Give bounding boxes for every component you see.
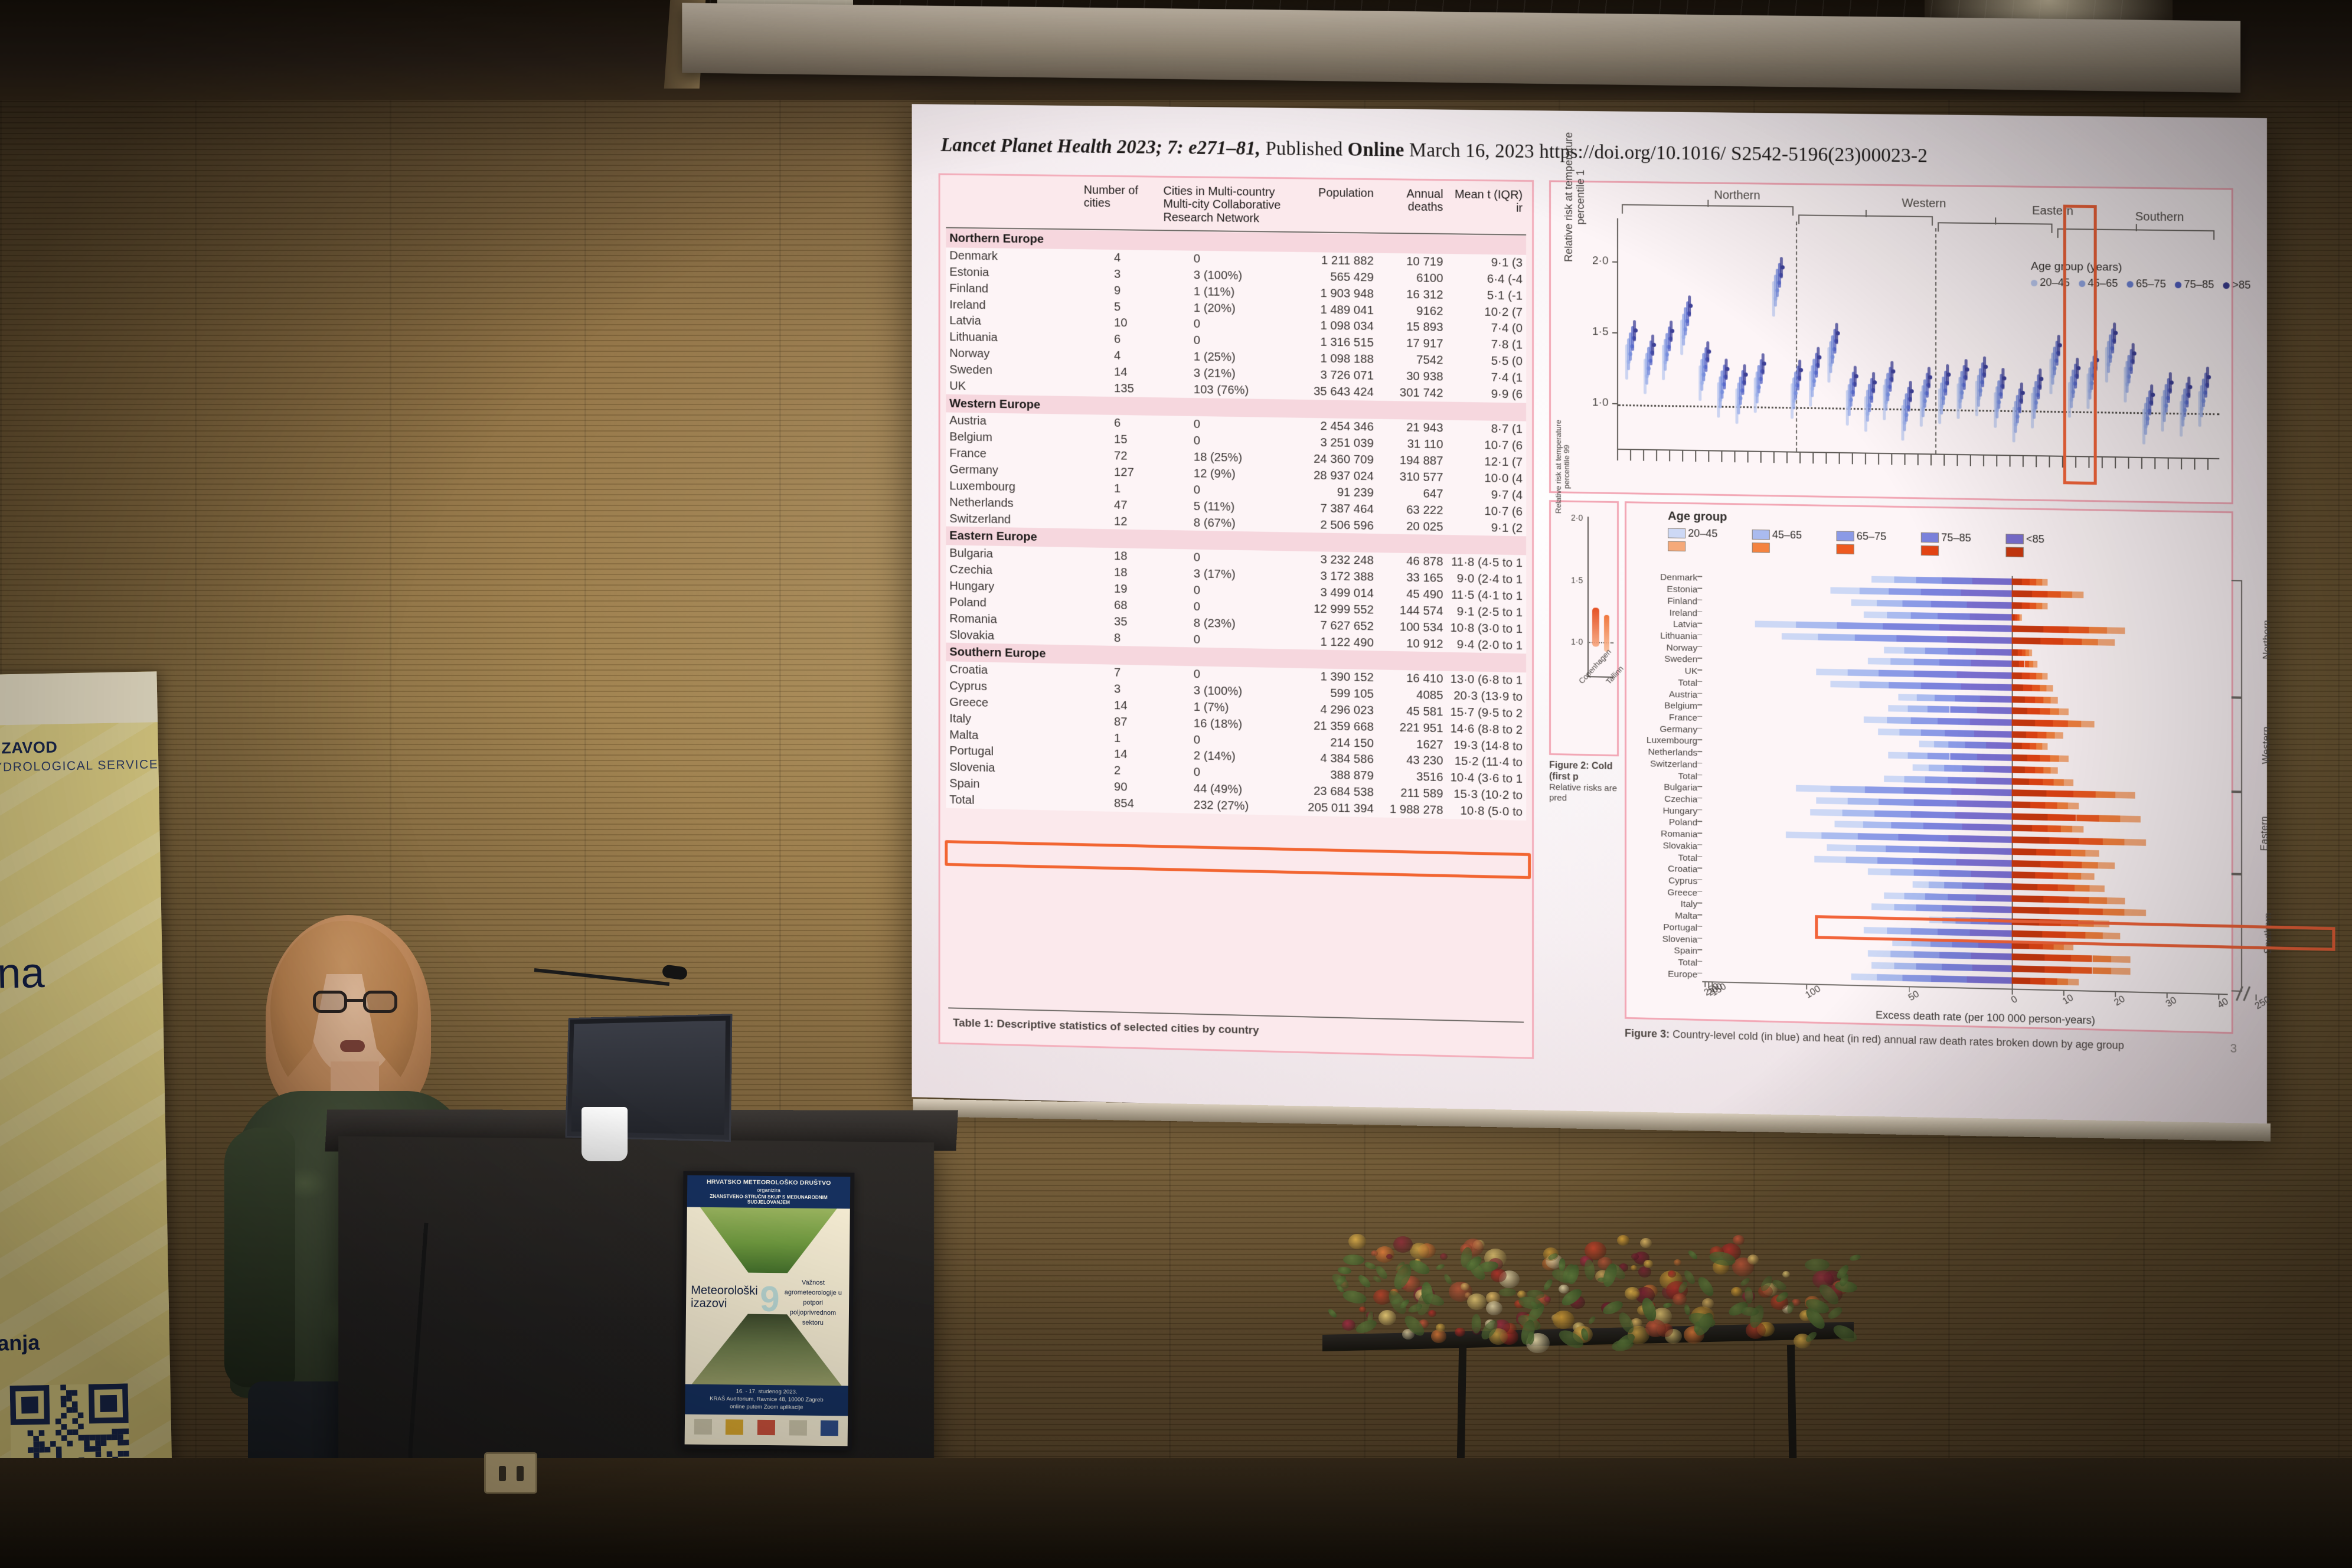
fig2-point <box>1799 368 1803 372</box>
poster-header: HRVATSKO METEOROLOŠKO DRUŠTVO organizira… <box>687 1175 851 1209</box>
cell-meantemp: 14·6 (8·8 to 2 <box>1446 720 1526 739</box>
cell-deaths: 221 951 <box>1377 719 1447 737</box>
fig3-bar-cold <box>1830 786 1864 793</box>
floor <box>0 1458 2352 1568</box>
fig3-bar-cold <box>1942 905 1972 912</box>
foliage <box>1831 1322 1860 1345</box>
cell-deaths: 4085 <box>1377 686 1447 704</box>
fig3-x-tickmark <box>2063 990 2064 996</box>
cell-deaths: 15 893 <box>1377 318 1447 335</box>
fig3-bar-heat <box>2017 649 2022 655</box>
fig2-point <box>1947 373 1951 377</box>
fig3-swatch-heat-4 <box>2005 547 2023 557</box>
cell-population: 3 726 071 <box>1285 367 1377 384</box>
fig3-bar-heat <box>2012 848 2036 855</box>
fig3-region-bracket: Eastern <box>2232 792 2242 874</box>
fig3-bar-heat <box>2029 649 2033 656</box>
fig3-bar-cold <box>1887 612 1911 619</box>
fig2-legend-dot-4 <box>2223 282 2230 289</box>
fig3-bar-heat <box>2012 708 2028 715</box>
th-mean-temp: Mean t (IQR) ir <box>1446 185 1526 235</box>
fig3-category-label: Slovenia <box>1662 935 1698 945</box>
fig3-bar-cold <box>1899 694 1917 701</box>
fig3-bar-heat <box>2069 626 2089 633</box>
fig3-bar-cold <box>1948 835 2012 843</box>
fig3-category-label: Norway <box>1667 643 1698 653</box>
fig3-bar-heat <box>2012 743 2022 749</box>
cell-cities: 15 <box>1080 431 1160 449</box>
foliage <box>1559 1258 1566 1271</box>
cell-mcc: 2 (14%) <box>1160 747 1286 766</box>
fig3-bar-heat <box>2045 978 2057 985</box>
fig3-bar-cold <box>1911 612 1938 619</box>
table-caption: Table 1: Descriptive statistics of selec… <box>953 1017 1259 1037</box>
fig3-bar-cold <box>1908 705 1928 713</box>
fig3-bar-cold <box>1867 868 1890 876</box>
fig3-bar-cold <box>1950 706 1977 713</box>
fig3-bar-cold <box>1929 881 1945 888</box>
flower <box>1348 1234 1366 1249</box>
fig3-bar-cold <box>1884 775 1905 782</box>
fig3-category-tick <box>1697 623 1702 624</box>
cell-country: Ireland <box>946 296 1080 315</box>
cell-deaths: 3516 <box>1377 768 1447 786</box>
cell-mcc: 103 (76%) <box>1160 381 1286 399</box>
cell-country: Finland <box>946 280 1080 298</box>
flower <box>1486 1301 1503 1315</box>
fig3-bar-heat <box>2099 815 2120 822</box>
cell-country: Estonia <box>946 264 1080 282</box>
fig3-bar-heat <box>2048 825 2061 832</box>
cell-meantemp: 10·0 (4 <box>1446 469 1526 487</box>
fig3-bar-heat <box>2032 591 2048 598</box>
fig2-y-axis-label: Relative risk at temperature percentile … <box>1563 129 1586 265</box>
fig2-point <box>1744 373 1748 377</box>
fig2-croatia-highlight <box>2063 205 2097 485</box>
poster-title-line1: Meteorološki <box>691 1284 762 1298</box>
fig3-bar-cold <box>1970 718 2011 726</box>
podium-poster: HRVATSKO METEOROLOŠKO DRUŠTVO organizira… <box>681 1171 855 1450</box>
fig3-bar-heat <box>2036 673 2042 680</box>
fig3-category-tick <box>1697 728 1702 729</box>
cell-meantemp: 10·4 (3·6 to 1 <box>1446 769 1526 788</box>
fig3-bar-cold <box>1867 950 1890 958</box>
cell-deaths: 63 222 <box>1377 501 1447 519</box>
fig3-bar-heat <box>2022 672 2030 679</box>
flower <box>1674 1259 1681 1266</box>
fig3-bar-cold <box>1871 962 1894 969</box>
fig3-bar-cold <box>1890 951 1913 958</box>
fig3-bar-cold <box>1977 754 2012 761</box>
fig3-category-label: Malta <box>1675 912 1697 921</box>
fig3-category-tick <box>1697 599 1702 600</box>
flower <box>1467 1293 1487 1310</box>
fig3-bar-heat <box>2067 873 2080 880</box>
fig3-bar-cold <box>1956 858 2012 866</box>
cell-deaths: 6100 <box>1377 269 1447 286</box>
fig3-bar-heat <box>2089 627 2107 634</box>
foliage <box>1342 1288 1368 1306</box>
fig3-bar-heat <box>2042 603 2048 609</box>
fig3-bar-cold <box>1903 788 1951 795</box>
fig2-ytickmark-10 <box>1612 403 1618 404</box>
fig3-bar-cold <box>1903 975 1932 982</box>
cell-meantemp: 9·1 (2 <box>1446 519 1526 537</box>
fig3-bar-cold <box>1847 798 1879 805</box>
fig3-category-tick <box>1697 588 1702 589</box>
fig3-x-tickmark <box>1704 981 1706 987</box>
fig3-bar-heat <box>2059 708 2068 715</box>
fig3-category-tick <box>1697 961 1702 962</box>
fig3-x-tickmark <box>2256 994 2257 1000</box>
cell-population: 1 122 490 <box>1285 633 1377 651</box>
fig3-bar-heat <box>2092 967 2111 974</box>
fig2-ytickmark-15 <box>1612 332 1618 334</box>
cell-cities: 4 <box>1080 249 1160 266</box>
fig3-swatch-heat-2 <box>1837 544 1854 554</box>
fig2-point <box>1689 303 1693 308</box>
fig3-bar-cold <box>1860 587 1889 594</box>
flower <box>1631 1265 1637 1270</box>
fig3-bar-cold <box>1928 753 1950 760</box>
fig3-bar-heat <box>2046 790 2073 798</box>
cell-mcc: 1 (11%) <box>1160 283 1286 301</box>
fig2-point <box>2003 377 2007 381</box>
fig3-bar-cold <box>1957 671 2012 679</box>
banner-top-strip <box>0 671 164 726</box>
cell-mcc: 3 (21%) <box>1160 365 1286 383</box>
fig3-bar-cold <box>1755 621 1795 628</box>
cell-mcc: 8 (67%) <box>1160 514 1286 532</box>
fig2-point <box>1652 343 1656 347</box>
cell-cities: 14 <box>1080 364 1160 381</box>
cell-meantemp: 15·3 (10·2 to <box>1446 786 1526 804</box>
cell-mcc: 12 (9%) <box>1160 465 1286 483</box>
fig2-legend-label-4: >85 <box>2232 279 2250 291</box>
fig3-bar-heat <box>2023 684 2032 691</box>
fig3-bar-cold <box>1945 730 1974 737</box>
poster-field-image <box>687 1207 850 1274</box>
cell-population: 7 627 652 <box>1285 616 1377 635</box>
cell-country: Sweden <box>946 361 1080 380</box>
fig2-point <box>2040 377 2044 381</box>
fig2-legend-dot-3 <box>2175 282 2181 288</box>
fig3-bar-cold <box>1884 892 1905 899</box>
fig3-bar-cold <box>1934 741 1949 748</box>
fig3-bar-cold <box>1925 648 1948 655</box>
fig3-bar-heat <box>2051 767 2059 773</box>
fig3-bar-cold <box>1879 799 1914 806</box>
fig3-bar-heat <box>2040 708 2050 714</box>
cell-cities: 3 <box>1080 680 1160 698</box>
fig3-bar-heat <box>2032 685 2040 691</box>
fig3-bar-cold <box>1974 730 2012 737</box>
fig3-bar-heat <box>2061 826 2073 833</box>
figure-2-panel: Northern Western Eastern Southern Relati… <box>1549 180 2233 504</box>
fig3-bar-cold <box>1976 648 2012 655</box>
fig3-category-label: Austria <box>1669 690 1697 699</box>
fig3-bar-heat <box>2012 895 2044 902</box>
fig3-bar-heat <box>2012 825 2032 832</box>
fig3-bar-heat <box>2012 778 2029 785</box>
cell-cities: 18 <box>1080 547 1160 565</box>
fig3-category-tick <box>1697 635 1702 636</box>
fig3-bar-heat <box>2053 873 2067 880</box>
cell-meantemp: 9·1 (2·5 to 1 <box>1446 603 1526 620</box>
flower <box>1672 1293 1686 1305</box>
fig3-bar-cold <box>1920 729 1945 736</box>
fig2-point <box>1836 331 1840 335</box>
fig3-category-tick <box>1697 751 1702 752</box>
fig3-swatch-heat-3 <box>1921 545 1939 556</box>
fig3-bar-cold <box>1939 659 1971 667</box>
fig3-bar-cold <box>1966 602 2011 609</box>
fig3-bar-cold <box>1782 633 1818 640</box>
cell-meantemp: 10·7 (6 <box>1446 437 1526 455</box>
cell-mcc: 5 (11%) <box>1160 498 1286 516</box>
cell-mcc: 18 (25%) <box>1160 449 1286 467</box>
fig2-sep-2 <box>1935 228 1936 453</box>
fig3-bar-cold <box>1916 963 1942 970</box>
paper-cup <box>582 1107 628 1161</box>
cell-meantemp: 9·4 (2·0 to 1 <box>1446 636 1526 654</box>
fig3-bar-heat <box>2049 837 2079 844</box>
fig3-bar-cold <box>1908 752 1928 759</box>
fig2-region-northern: Northern <box>1714 189 1760 203</box>
cell-mcc: 0 <box>1160 250 1286 268</box>
fig3-bar-cold <box>1916 694 1935 701</box>
cell-deaths: 647 <box>1377 485 1447 502</box>
cell-mcc: 232 (27%) <box>1160 796 1286 815</box>
fig3-bar-heat <box>2042 743 2048 750</box>
fig3-bar-cold <box>1896 635 1947 643</box>
outlet-hole-right <box>517 1466 524 1481</box>
fig3-bar-cold <box>1950 753 1977 760</box>
fig2-point <box>2207 375 2211 379</box>
fig3-region-bracket: Western <box>2232 698 2242 792</box>
cell-meantemp: 12·1 (7 <box>1446 453 1526 471</box>
fig3-category-tick <box>1697 739 1702 740</box>
fig2-inset-y-axis <box>1587 517 1588 676</box>
fig3-bar-cold <box>1905 893 1925 900</box>
fig3-bar-cold <box>1877 857 1913 864</box>
fig2-inset-ylabel: Relative risk at temperature percentile … <box>1554 407 1572 525</box>
fig2-inset-violin-tallinn <box>1604 615 1609 652</box>
fig3-bar-cold <box>1856 845 1886 852</box>
fig3-legend-label-2: 65–75 <box>1857 530 1887 543</box>
fig3-bar-heat <box>2012 696 2025 703</box>
fig3-bar-cold <box>1945 765 1962 772</box>
table-1-panel: Number of cities Cities in Multi-country… <box>939 173 1534 1059</box>
fig3-bar-heat <box>2012 637 2041 644</box>
fig3-bar-heat <box>2069 896 2089 903</box>
fig3-category-label: Croatia <box>1668 864 1697 874</box>
fig3-bar-cold <box>1879 670 1914 677</box>
flower <box>1342 1319 1355 1331</box>
fig3-bar-cold <box>1914 799 1957 807</box>
fig3-category-tick <box>1697 763 1702 764</box>
cell-population: 3 232 248 <box>1285 551 1377 569</box>
cell-population: 1 316 515 <box>1285 334 1377 351</box>
cell-meantemp: 5·5 (0 <box>1446 352 1526 370</box>
fig3-bar-cold <box>1919 846 1960 854</box>
fig2-point <box>2058 343 2062 347</box>
fig3-bar-heat <box>2092 956 2111 963</box>
fig3-bar-heat <box>2035 696 2043 703</box>
fig3-region-label: Northern <box>2261 619 2273 659</box>
banner-item-1: ja <box>0 1193 174 1222</box>
cell-meantemp: 10·2 (7 <box>1446 303 1526 321</box>
fig3-category-label: Sweden <box>1664 655 1697 665</box>
foliage <box>1805 1330 1818 1343</box>
fig3-bar-cold <box>1867 658 1890 665</box>
fig3-bar-heat <box>2012 602 2022 609</box>
slide-content: Lancet Planet Health 2023; 7: e271–81, P… <box>932 126 2248 1107</box>
fig3-bar-heat <box>2012 977 2031 984</box>
fig3-bar-cold <box>1938 718 1970 725</box>
fig3-bar-heat <box>2030 673 2036 680</box>
flower <box>1638 1266 1652 1278</box>
fig2-point <box>1873 380 1877 384</box>
cell-population: 12 999 552 <box>1285 600 1377 618</box>
fig3-bar-cold <box>1939 870 1971 877</box>
fig2-point <box>1762 361 1766 365</box>
cell-mcc: 0 <box>1160 665 1286 684</box>
fig3-bar-cold <box>1883 623 1940 631</box>
fig3-bar-heat <box>2043 697 2051 703</box>
cell-population: 4 296 023 <box>1285 701 1377 719</box>
fig3-bar-cold <box>1929 765 1945 772</box>
fig3-bar-cold <box>1962 765 1984 772</box>
cell-population: 35 643 424 <box>1285 383 1377 400</box>
fig3-bar-cold <box>1960 847 2012 855</box>
fig3-bar-cold <box>1855 635 1896 642</box>
citation-journal: Lancet Planet Health 2023; 7: e271–81, <box>941 135 1261 159</box>
cell-mcc: 3 (100%) <box>1160 266 1286 285</box>
sponsor-logo-3 <box>757 1420 775 1435</box>
cell-cities: 12 <box>1080 512 1160 530</box>
fig3-bar-heat <box>2071 850 2085 857</box>
figure-2-caption-sub: Relative risks are pred <box>1549 782 1620 805</box>
fig3-bar-cold <box>1905 776 1925 783</box>
fig3-bar-cold <box>1925 776 1948 783</box>
fig2-legend-label-3: 75–85 <box>2184 278 2214 290</box>
fig3-bar-heat <box>2012 672 2022 679</box>
fig2-legend-dot-2 <box>2127 281 2134 288</box>
fig3-bar-cold <box>1935 694 1955 701</box>
cell-population: 24 360 709 <box>1285 450 1377 468</box>
fig2-sep-1 <box>1796 221 1797 451</box>
fig3-category-label: Greece <box>1667 888 1697 898</box>
flower <box>1436 1324 1445 1332</box>
cell-meantemp: 10·7 (6 <box>1446 502 1526 520</box>
fig3-bar-cold <box>1865 786 1904 793</box>
fig3-bar-cold <box>1976 777 2012 784</box>
cell-mcc: 0 <box>1160 582 1286 600</box>
fig3-bar-heat <box>2049 907 2079 914</box>
fig2-point <box>1707 349 1711 354</box>
fig3-bar-heat <box>2030 579 2036 586</box>
fig3-category-tick <box>1697 775 1702 776</box>
flower <box>1428 1310 1436 1317</box>
fig3-bar-cold <box>1796 622 1837 629</box>
fig2-point <box>2188 385 2193 389</box>
banner-title-line2: đana <box>0 946 174 1000</box>
fig2-point <box>2113 331 2118 335</box>
fig3-bar-heat <box>2024 661 2029 668</box>
fig3-bar-heat <box>2058 884 2075 891</box>
fig3-bar-cold <box>1817 669 1848 676</box>
cell-meantemp: 15·7 (9·5 to 2 <box>1446 704 1526 722</box>
fig3-category-tick <box>1697 903 1702 904</box>
fig3-category-label: Total <box>1678 678 1697 688</box>
banner-organisation: ŠKI ZAVOD D HYDROLOGICAL SERVICE <box>0 736 165 775</box>
foliage <box>1363 1261 1376 1271</box>
cell-country: Bulgaria <box>946 545 1080 564</box>
glasses-icon <box>313 991 398 1014</box>
fig3-x-axis-title: Excess death rate (per 100 000 person-ye… <box>1876 1009 2095 1027</box>
fig3-bar-cold <box>1877 974 1902 981</box>
cell-meantemp: 7·4 (1 <box>1446 369 1526 387</box>
table-header-row: Number of cities Cities in Multi-country… <box>946 179 1526 235</box>
fig3-bar-heat <box>2111 968 2130 975</box>
flower <box>1559 1285 1569 1293</box>
fig3-bar-heat <box>2072 826 2084 833</box>
sponsor-logo-2 <box>726 1419 743 1435</box>
cell-country: Lithuania <box>946 329 1080 347</box>
fig3-bar-heat <box>2057 978 2068 985</box>
fig3-category-label: Hungary <box>1663 806 1698 816</box>
th-number-of-cities: Number of cities <box>1080 181 1160 230</box>
cell-deaths: 144 574 <box>1377 602 1447 619</box>
cell-country: Croatia <box>946 661 1080 680</box>
fig3-bar-heat <box>2043 767 2051 773</box>
fig3-bar-cold <box>1916 904 1942 912</box>
fig3-bar-cold <box>1965 741 1986 749</box>
fig3-bar-cold <box>1948 894 1976 901</box>
fig3-bar-cold <box>1977 707 2012 714</box>
fig3-swatch-cold-1 <box>1752 530 1770 540</box>
cell-meantemp: 10·8 (5·0 to <box>1446 802 1526 821</box>
fig3-x-tickmark <box>1909 986 1910 992</box>
fig3-x-tickmark <box>1711 981 1713 987</box>
fig3-bar-heat <box>2071 955 2092 962</box>
fig3-category-label: Ireland <box>1670 608 1698 618</box>
fig3-legend-label-1: 45–65 <box>1772 528 1802 541</box>
cell-cities: 68 <box>1080 596 1160 614</box>
fig3-bar-cold <box>1890 869 1913 876</box>
figure-2-plot: Northern Western Eastern Southern Relati… <box>1551 182 2232 502</box>
fig3-bar-heat <box>2071 967 2092 974</box>
fig3-bar-cold <box>1845 856 1877 863</box>
fig3-category-label: Cyprus <box>1668 876 1697 886</box>
fig3-bar-heat <box>2043 626 2068 633</box>
fig3-bar-cold <box>1831 681 1860 688</box>
cell-deaths: 43 230 <box>1377 752 1447 769</box>
foliage <box>1337 1266 1351 1275</box>
descriptive-statistics-table: Number of cities Cities in Multi-country… <box>946 179 1526 820</box>
cell-meantemp: 6·4 (-4 <box>1446 270 1526 288</box>
cell-mcc: 1 (7%) <box>1160 698 1286 717</box>
fig3-category-label: Total <box>1678 772 1697 781</box>
fig3-bar-cold <box>1949 741 1965 749</box>
cell-population: 1 098 188 <box>1285 350 1377 368</box>
fig2-inset-ytick-20: 2·0 <box>1571 513 1583 522</box>
fig3-category-label: Denmark <box>1660 573 1697 583</box>
fig3-bar-cold <box>1961 590 2012 597</box>
fig3-bar-cold <box>1894 904 1916 911</box>
foliage <box>1849 1254 1861 1262</box>
